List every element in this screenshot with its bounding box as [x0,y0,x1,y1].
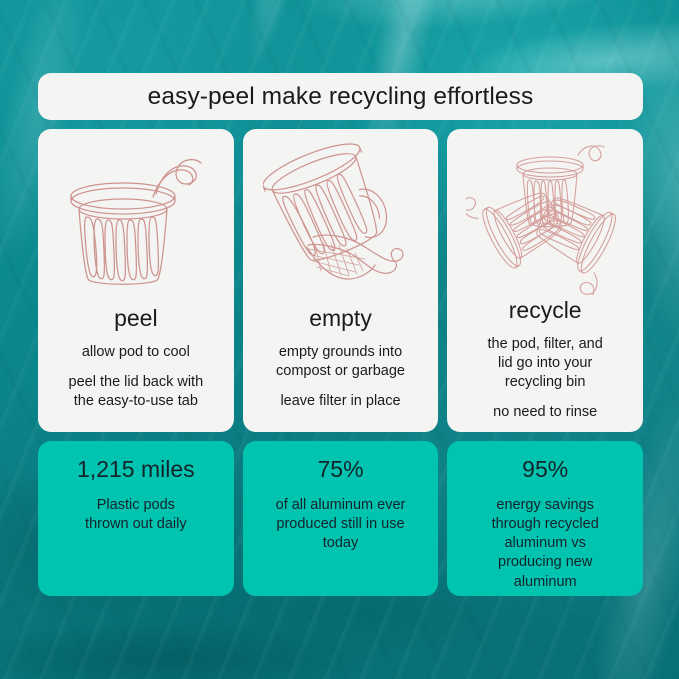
stat-value: 75% [317,456,363,483]
step-line: the pod, filter, and lid go into your re… [488,335,603,392]
infographic-root: easy-peel make recycling effortless [0,0,679,679]
coffee-pod-emptying-grounds-icon [253,135,429,303]
stat-label: energy savings through recycled aluminum… [492,496,599,592]
coffee-pod-peeling-lid-icon [48,135,224,303]
step-line: no need to rinse [493,403,597,422]
step-line: leave filter in place [280,392,400,411]
step-card-peel: peel allow pod to cool peel the lid back… [38,129,234,432]
stat-card-plastic-pods: 1,215 miles Plastic pods thrown out dail… [38,441,234,596]
step-title: empty [309,305,372,332]
step-card-empty: empty empty grounds into compost or garb… [243,129,439,432]
stat-label: of all aluminum ever produced still in u… [276,496,406,553]
step-title: recycle [509,297,582,324]
stat-card-aluminum-in-use: 75% of all aluminum ever produced still … [243,441,439,596]
steps-row: peel allow pod to cool peel the lid back… [38,129,643,432]
stat-value: 95% [522,456,568,483]
content-grid: easy-peel make recycling effortless [38,73,643,596]
step-line: peel the lid back with the easy-to-use t… [69,373,204,411]
step-lines: allow pod to cool peel the lid back with… [48,343,224,411]
step-lines: the pod, filter, and lid go into your re… [457,335,633,421]
stats-row: 1,215 miles Plastic pods thrown out dail… [38,441,643,596]
step-title: peel [114,305,157,332]
stat-value: 1,215 miles [77,456,195,483]
step-lines: empty grounds into compost or garbage le… [253,343,429,411]
title-bar: easy-peel make recycling effortless [38,73,643,120]
stat-card-energy-savings: 95% energy savings through recycled alum… [447,441,643,596]
three-coffee-pods-recycle-icon [457,135,633,295]
step-line: empty grounds into compost or garbage [276,343,405,381]
step-line: allow pod to cool [82,343,190,362]
stat-label: Plastic pods thrown out daily [85,496,187,534]
step-card-recycle: recycle the pod, filter, and lid go into… [447,129,643,432]
page-title: easy-peel make recycling effortless [148,83,534,111]
